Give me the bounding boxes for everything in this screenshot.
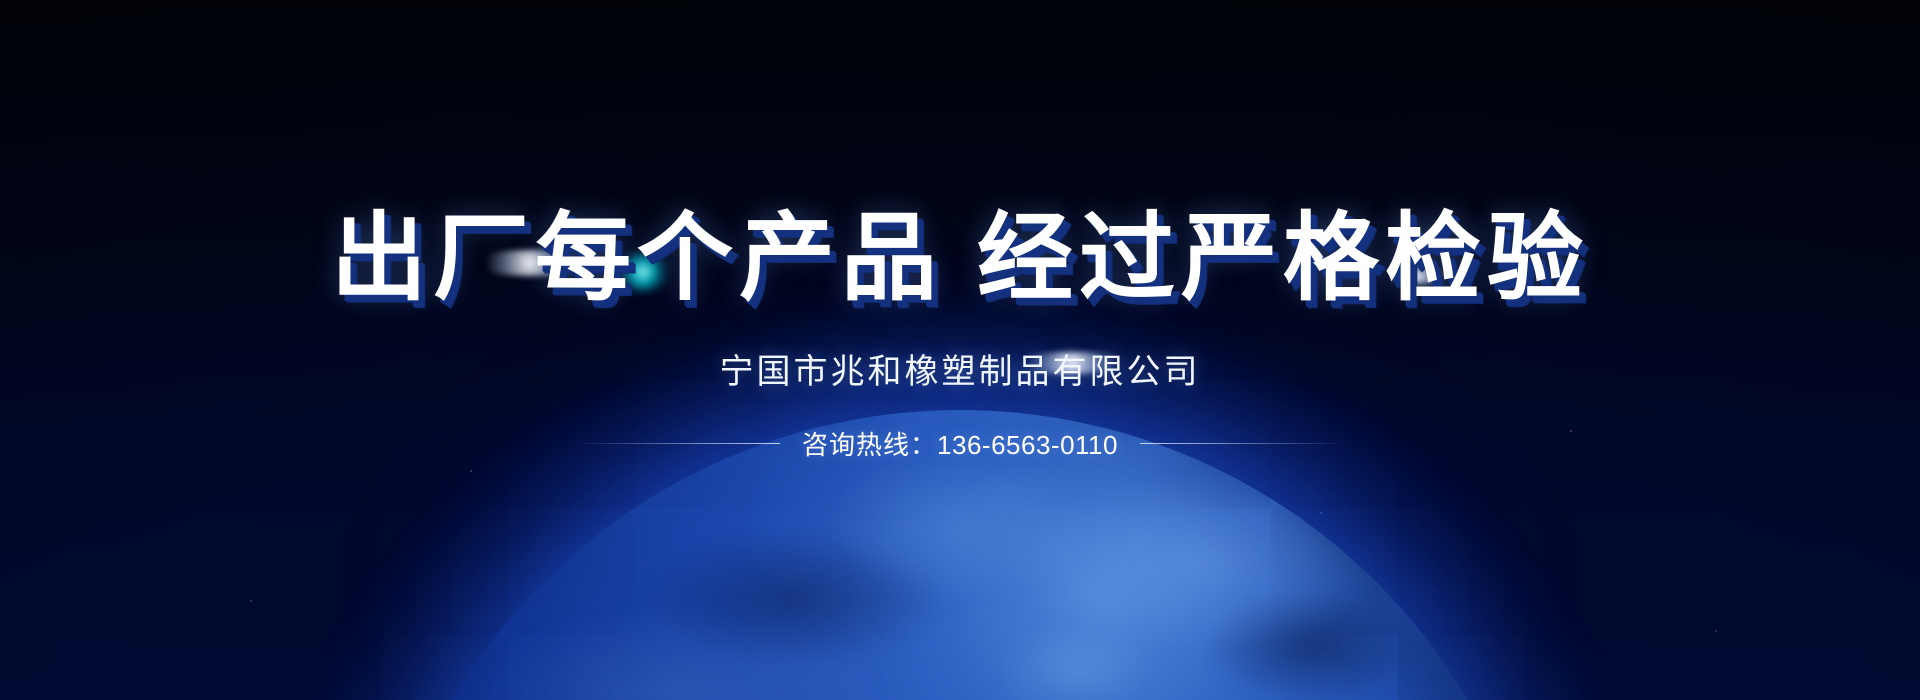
company-name: 宁国市兆和橡塑制品有限公司 <box>720 344 1201 393</box>
hotline-label: 咨询热线： <box>802 430 937 460</box>
hotline-number: 136-6563-0110 <box>937 430 1118 460</box>
banner-content: 出厂每个产品经过严格检验 宁国市兆和橡塑制品有限公司 咨询热线：136-6563… <box>0 0 1920 700</box>
hotline-row: 咨询热线：136-6563-0110 <box>584 425 1336 462</box>
rule-left <box>584 443 780 444</box>
rule-right <box>1140 443 1336 444</box>
headline-part-2: 经过严格检验 <box>977 205 1589 312</box>
hero-banner: 出厂每个产品经过严格检验 宁国市兆和橡塑制品有限公司 咨询热线：136-6563… <box>0 0 1920 700</box>
hotline-text: 咨询热线：136-6563-0110 <box>802 425 1118 462</box>
headline-part-1: 出厂每个产品 <box>331 205 943 312</box>
page-title: 出厂每个产品经过严格检验 <box>331 208 1589 310</box>
